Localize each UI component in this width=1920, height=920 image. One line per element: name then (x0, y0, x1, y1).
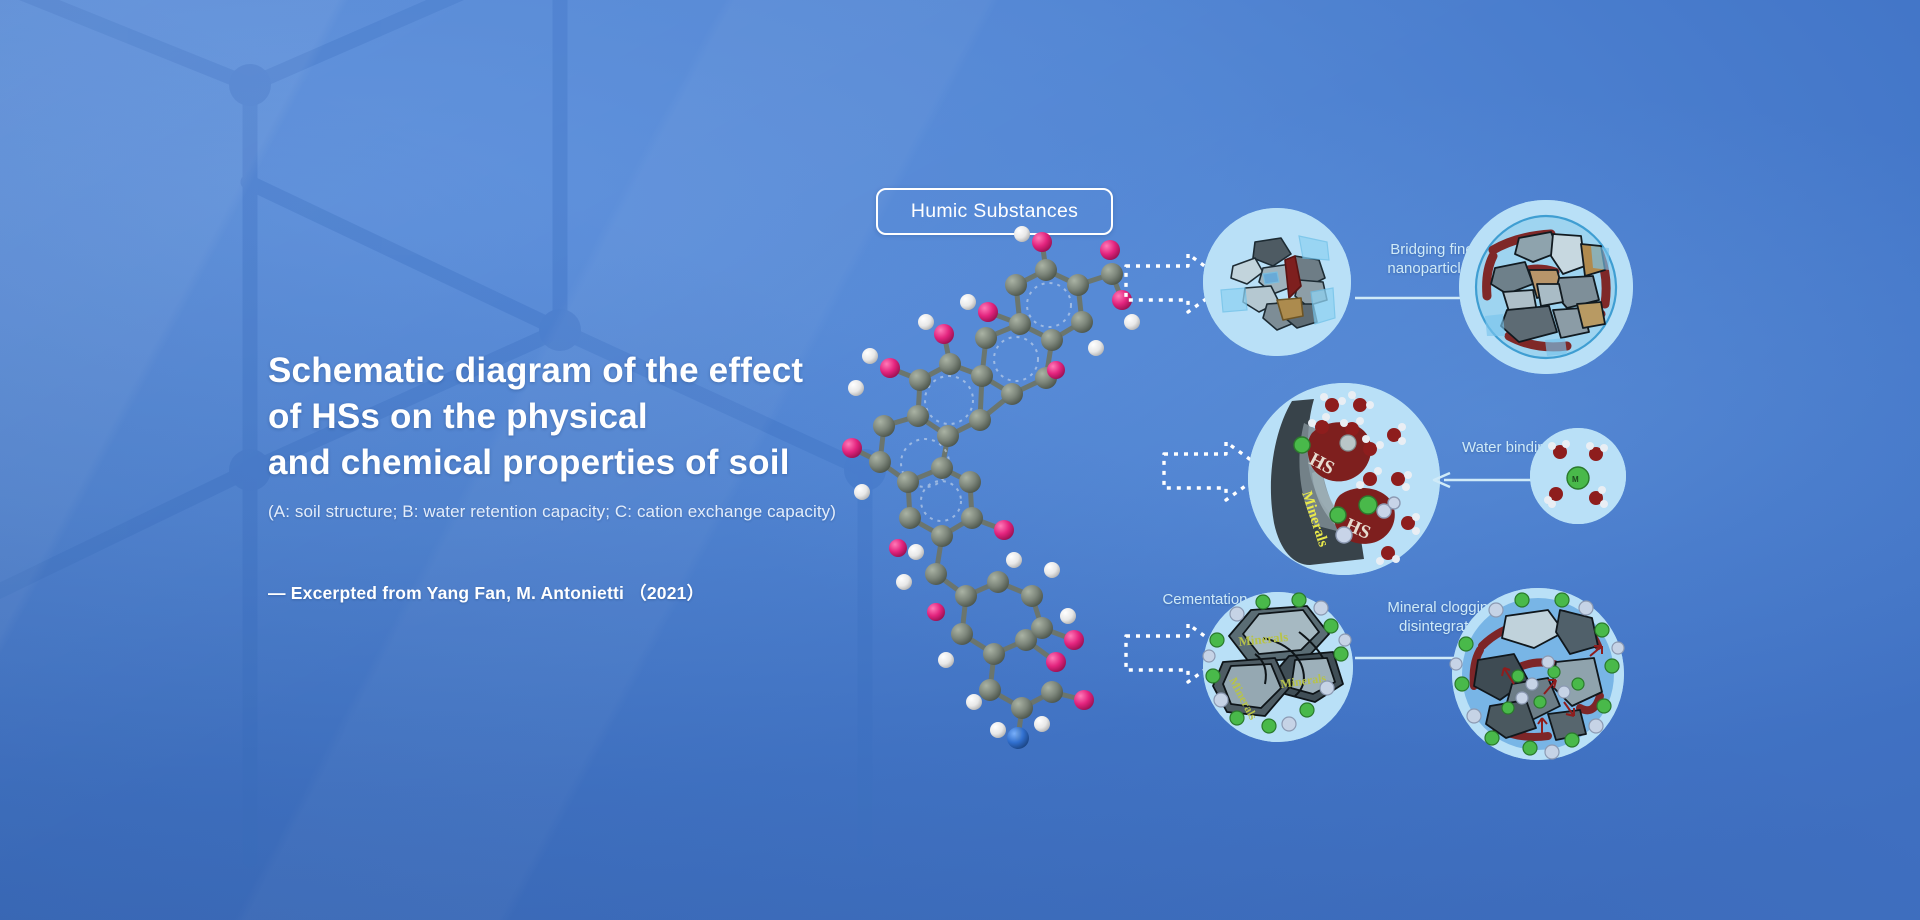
row-a-right-circle (1459, 200, 1633, 374)
subtitle-legend: (A: soil structure; B: water retention c… (268, 500, 908, 524)
row-c-right-circle (1452, 588, 1624, 760)
title-line-2: of HSs on the physical (268, 394, 908, 440)
humic-substances-label-text: Humic Substances (911, 200, 1078, 223)
title-line-1: Schematic diagram of the effect (268, 348, 908, 394)
cation-label: M (1572, 475, 1579, 484)
humic-substances-label: Humic Substances (876, 188, 1113, 235)
diagram-canvas: Schematic diagram of the effect of HSs o… (0, 0, 1920, 920)
credit-year: （2021） (629, 583, 704, 603)
row-c-left-circle: Minerals Minerals Minerals (1203, 592, 1353, 742)
credit-text: — Excerpted from Yang Fan, M. Antonietti (268, 583, 624, 603)
page-title: Schematic diagram of the effect of HSs o… (268, 348, 908, 486)
row-a-left-circle (1203, 208, 1351, 356)
source-credit: — Excerpted from Yang Fan, M. Antonietti… (268, 580, 908, 605)
row-b-right-circle: M (1530, 428, 1626, 524)
row-b-left-circle: Minerals HS HS (1248, 383, 1440, 575)
text-panel: Schematic diagram of the effect of HSs o… (268, 348, 908, 605)
title-line-3: and chemical properties of soil (268, 440, 908, 486)
